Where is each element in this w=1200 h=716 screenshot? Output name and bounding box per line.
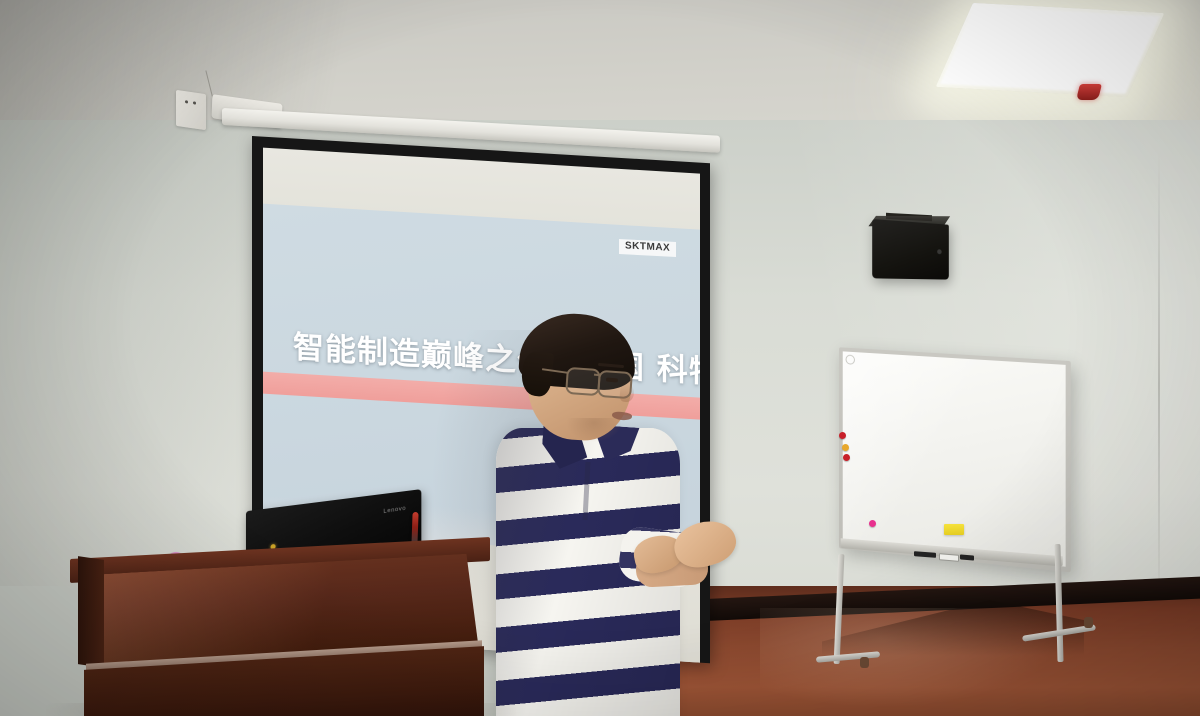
conference-room-photo: SKTMAX 智能制造巅峰之作，中国 科特 bbox=[0, 0, 1200, 716]
led-panel-diffuser bbox=[940, 6, 1160, 94]
slide-logo: SKTMAX bbox=[619, 239, 676, 257]
podium bbox=[60, 548, 500, 716]
wall-speaker bbox=[872, 219, 949, 280]
whiteboard-eraser bbox=[939, 553, 959, 562]
marker-pen bbox=[960, 554, 974, 560]
wall-outlet-plate bbox=[176, 90, 206, 130]
outlet-socket-icon bbox=[193, 101, 196, 104]
whiteboard bbox=[826, 354, 1098, 664]
marker-pen bbox=[914, 551, 936, 558]
speaker-led-icon bbox=[937, 249, 942, 254]
whiteboard-caster bbox=[1084, 617, 1093, 628]
wall-corner-seam bbox=[1158, 150, 1160, 620]
pink-magnet bbox=[869, 520, 876, 527]
outlet-socket-icon bbox=[185, 100, 188, 103]
red-magnet bbox=[839, 432, 846, 439]
whiteboard-hanger-hole bbox=[846, 354, 855, 364]
red-magnet bbox=[843, 454, 850, 461]
yellow-sticky-note bbox=[944, 524, 964, 535]
chin-shadow bbox=[566, 418, 622, 442]
whiteboard-frame bbox=[839, 347, 1071, 572]
glasses-lens-left bbox=[565, 367, 601, 396]
whiteboard-caster bbox=[860, 657, 869, 668]
nose bbox=[619, 383, 635, 402]
led-panel-light bbox=[936, 3, 1165, 97]
laptop-brand-label: Lenovo bbox=[383, 506, 406, 515]
yellow-magnet bbox=[842, 444, 849, 451]
podium-side-panel bbox=[78, 556, 104, 668]
whiteboard-shadow bbox=[822, 600, 1084, 656]
presenter bbox=[470, 300, 790, 716]
